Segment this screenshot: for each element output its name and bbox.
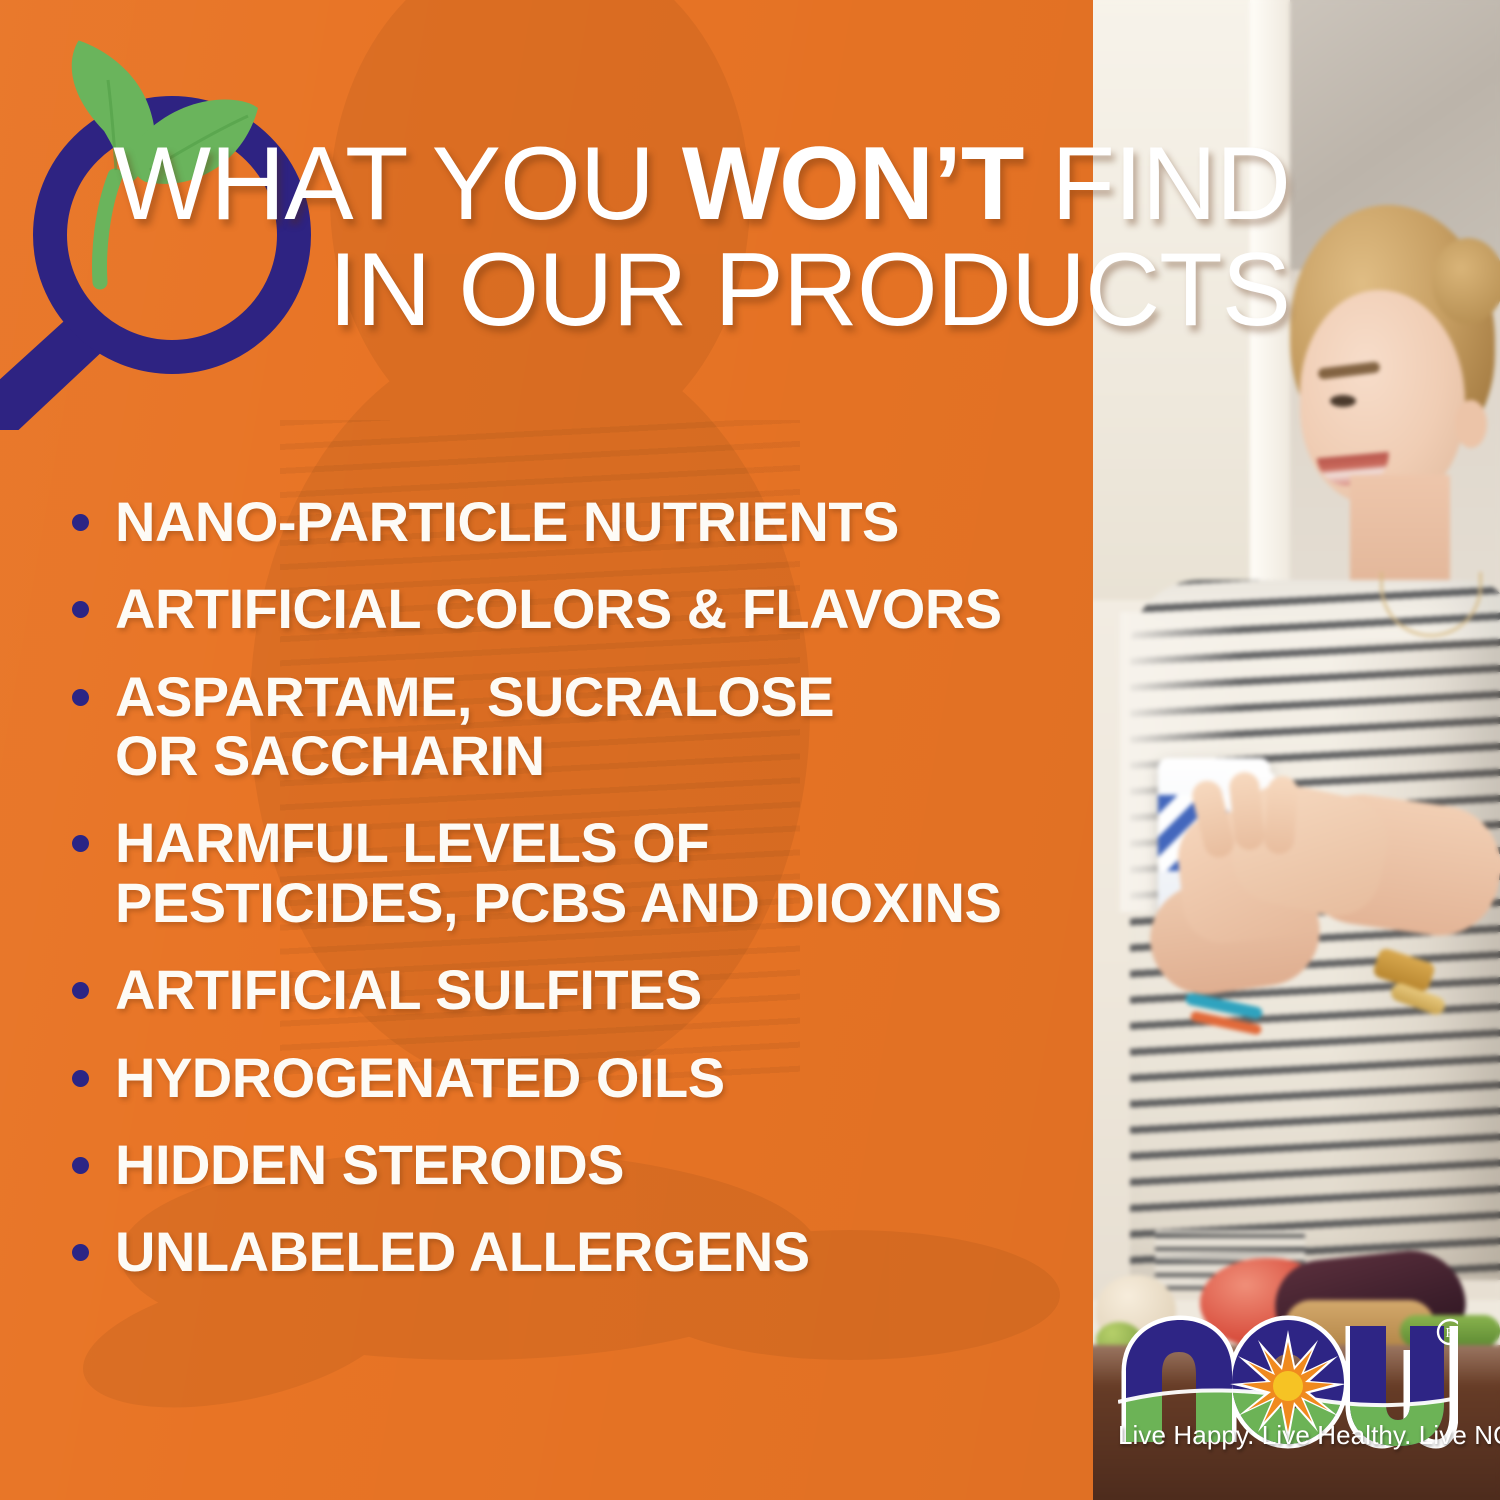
list-item-label: UNLABELED ALLERGENS <box>115 1222 810 1281</box>
list-item-line: OR SACCHARIN <box>115 726 834 785</box>
list-item-line: ARTIFICIAL COLORS & FLAVORS <box>115 579 1002 638</box>
bullet-dot-icon <box>72 835 89 852</box>
list-item-line: HARMFUL LEVELS OF <box>115 813 1001 872</box>
list-item-line: ARTIFICIAL SULFITES <box>115 960 702 1019</box>
bullet-dot-icon <box>72 1070 89 1087</box>
headline-line-1: WHAT YOU WON’T FIND <box>0 135 1290 235</box>
list-item: HYDROGENATED OILS <box>72 1048 1082 1107</box>
bullet-dot-icon <box>72 982 89 999</box>
photo-finger <box>1263 775 1298 855</box>
list-item: ARTIFICIAL SULFITES <box>72 960 1082 1019</box>
list-item: HARMFUL LEVELS OF PESTICIDES, PCBS AND D… <box>72 813 1082 932</box>
brand-tagline: Live Happy. Live Healthy. Live NOW. <box>1118 1420 1458 1451</box>
list-item-line: NANO-PARTICLE NUTRIENTS <box>115 492 899 551</box>
list-item-line: PESTICIDES, PCBS AND DIOXINS <box>115 873 1001 932</box>
photo-neck <box>1350 475 1450 585</box>
list-item: ASPARTAME, SUCRALOSE OR SACCHARIN <box>72 667 1082 786</box>
bullet-dot-icon <box>72 1157 89 1174</box>
list-item-line: HIDDEN STEROIDS <box>115 1135 624 1194</box>
photo-hair-bun <box>1432 238 1500 324</box>
list-item: UNLABELED ALLERGENS <box>72 1222 1082 1281</box>
bullet-dot-icon <box>72 514 89 531</box>
list-item-line: HYDROGENATED OILS <box>115 1048 725 1107</box>
list-item: NANO-PARTICLE NUTRIENTS <box>72 492 1082 551</box>
list-item: HIDDEN STEROIDS <box>72 1135 1082 1194</box>
headline-emphasis: WON’T <box>682 126 1024 242</box>
list-item-label: ARTIFICIAL SULFITES <box>115 960 702 1019</box>
headline-line1-pre: WHAT YOU <box>113 126 682 242</box>
list-item-label: ASPARTAME, SUCRALOSE OR SACCHARIN <box>115 667 834 786</box>
list-item-line: UNLABELED ALLERGENS <box>115 1222 810 1281</box>
bullet-dot-icon <box>72 1244 89 1261</box>
list-item-label: HIDDEN STEROIDS <box>115 1135 624 1194</box>
photo-eye <box>1330 395 1356 407</box>
list-item-label: HARMFUL LEVELS OF PESTICIDES, PCBS AND D… <box>115 813 1001 932</box>
exclusion-list: NANO-PARTICLE NUTRIENTS ARTIFICIAL COLOR… <box>72 492 1082 1310</box>
list-item-label: NANO-PARTICLE NUTRIENTS <box>115 492 899 551</box>
svg-text:R: R <box>1445 1326 1455 1341</box>
list-item-label: ARTIFICIAL COLORS & FLAVORS <box>115 579 1002 638</box>
list-item-label: HYDROGENATED OILS <box>115 1048 725 1107</box>
page-title: WHAT YOU WON’T FIND IN OUR PRODUCTS <box>0 135 1290 341</box>
list-item-line: ASPARTAME, SUCRALOSE <box>115 667 834 726</box>
headline-line-2: IN OUR PRODUCTS <box>0 241 1290 341</box>
list-item: ARTIFICIAL COLORS & FLAVORS <box>72 579 1082 638</box>
poster-root: WHAT YOU WON’T FIND IN OUR PRODUCTS NANO… <box>0 0 1500 1500</box>
bullet-dot-icon <box>72 689 89 706</box>
headline-line1-post: FIND <box>1023 126 1290 242</box>
photo-ear <box>1455 400 1487 448</box>
bullet-dot-icon <box>72 601 89 618</box>
